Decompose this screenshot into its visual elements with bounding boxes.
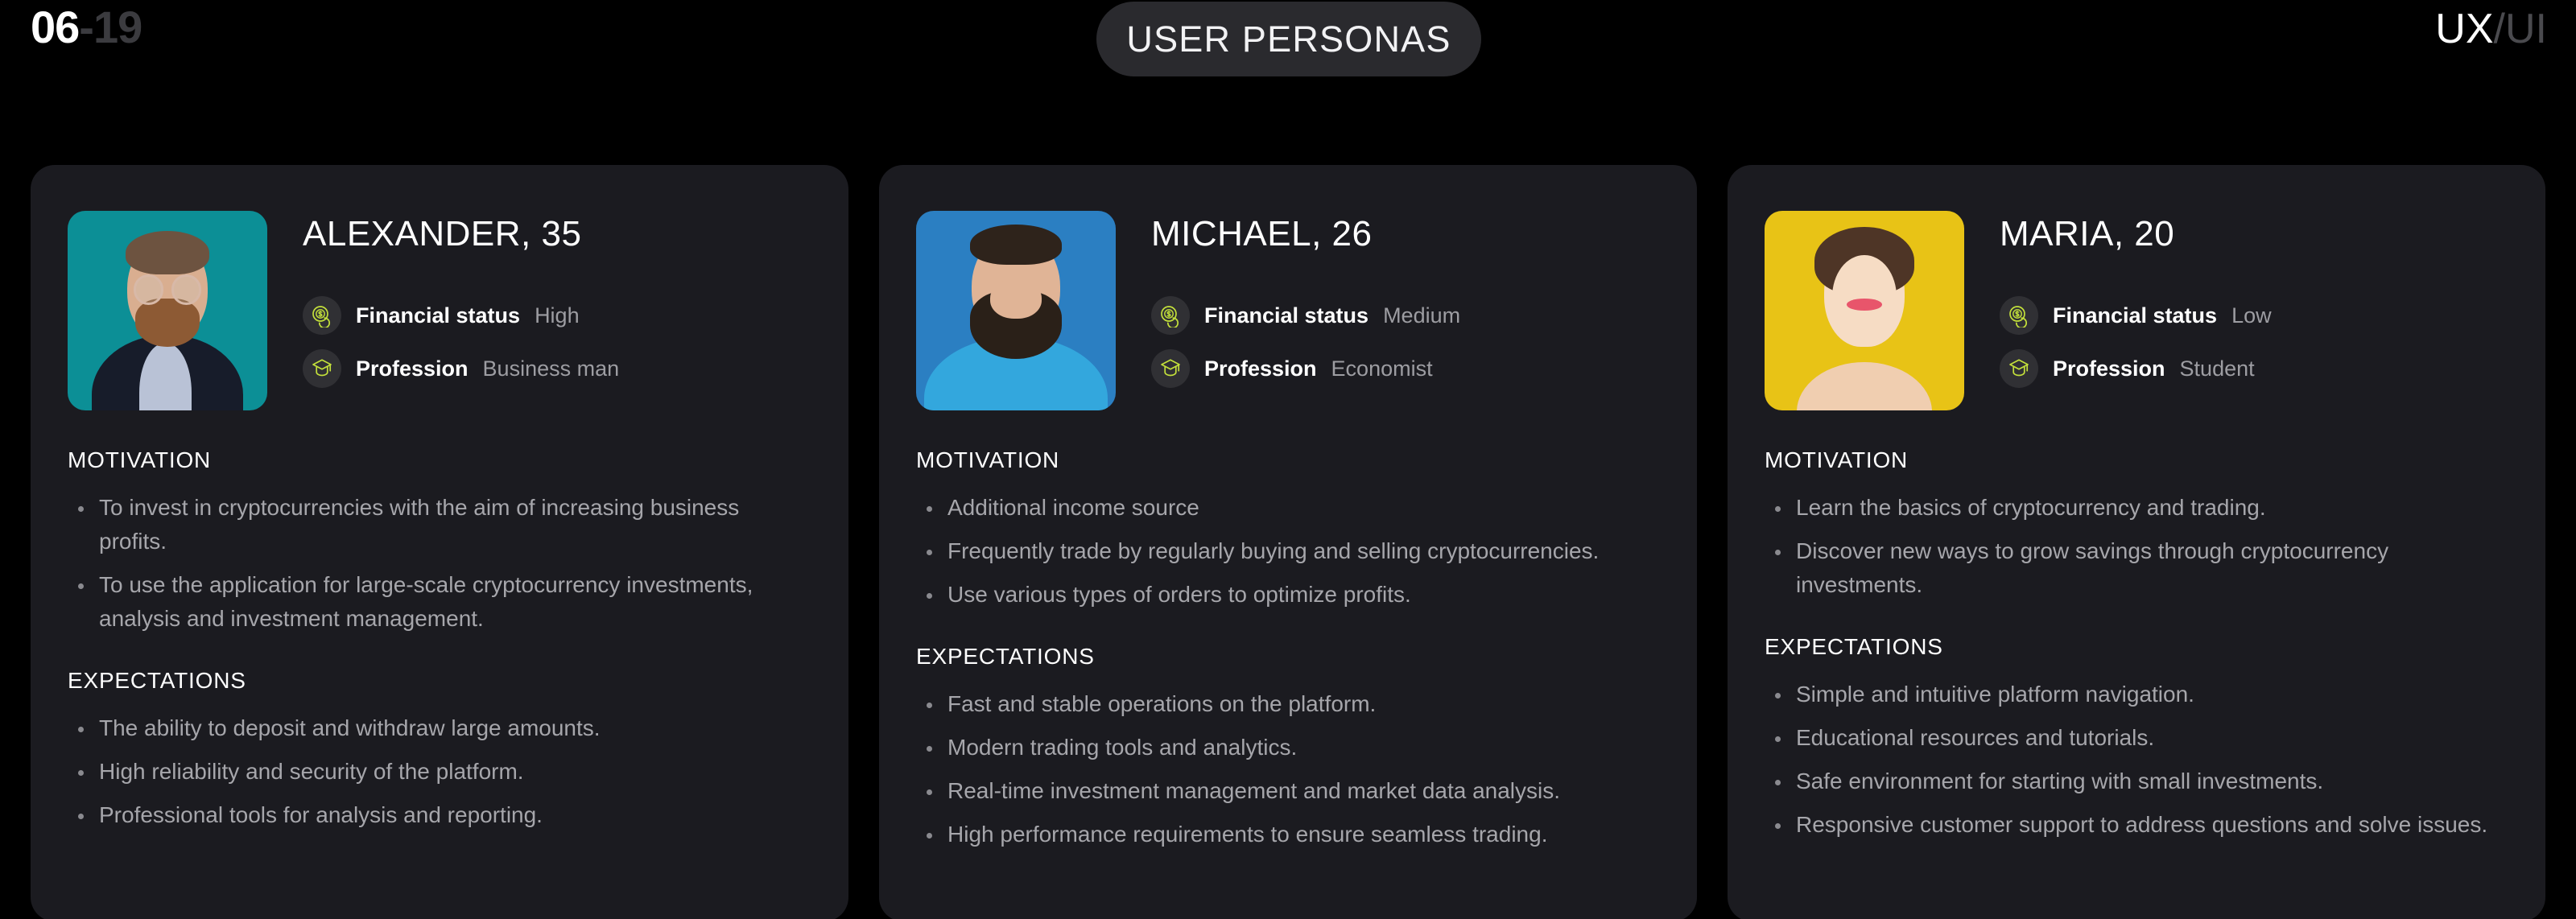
persona-card[interactable]: ALEXANDER, 35Financial statusHighProfess… xyxy=(31,165,848,919)
avatar xyxy=(68,211,267,410)
persona-header: MICHAEL, 26Financial statusMediumProfess… xyxy=(916,211,1660,410)
list-item: Learn the basics of cryptocurrency and t… xyxy=(1765,491,2508,525)
profession-value: Economist xyxy=(1331,356,1433,381)
list-item: Educational resources and tutorials. xyxy=(1765,721,2508,755)
profession-label: Profession xyxy=(1204,356,1317,381)
list-item: Responsive customer support to address q… xyxy=(1765,808,2508,842)
financial-status-value: Medium xyxy=(1383,303,1460,328)
list-item: Frequently trade by regularly buying and… xyxy=(916,534,1660,568)
list-item: Simple and intuitive platform navigation… xyxy=(1765,678,2508,711)
attribute-financial-status: Financial statusHigh xyxy=(303,296,619,335)
slide-title-pill: USER PERSONAS xyxy=(1096,2,1481,76)
persona-card[interactable]: MICHAEL, 26Financial statusMediumProfess… xyxy=(879,165,1697,919)
graduation-cap-icon xyxy=(2000,349,2038,388)
attribute-financial-status: Financial statusMedium xyxy=(1151,296,1460,335)
expectations-list: The ability to deposit and withdraw larg… xyxy=(68,711,811,832)
list-item: Real-time investment management and mark… xyxy=(916,774,1660,808)
attribute-profession: ProfessionEconomist xyxy=(1151,349,1460,388)
motivation-heading: MOTIVATION xyxy=(68,447,811,473)
motivation-list: Additional income sourceFrequently trade… xyxy=(916,491,1660,612)
financial-status-value: Low xyxy=(2231,303,2272,328)
list-item: Discover new ways to grow savings throug… xyxy=(1765,534,2508,602)
avatar xyxy=(1765,211,1964,410)
avatar xyxy=(916,211,1116,410)
list-item: High performance requirements to ensure … xyxy=(916,818,1660,851)
persona-name: MARIA, 20 xyxy=(2000,214,2272,254)
list-item: Professional tools for analysis and repo… xyxy=(68,798,811,832)
financial-status-label: Financial status xyxy=(1204,303,1368,328)
expectations-heading: EXPECTATIONS xyxy=(916,644,1660,670)
motivation-heading: MOTIVATION xyxy=(916,447,1660,473)
financial-status-label: Financial status xyxy=(2053,303,2217,328)
list-item: Additional income source xyxy=(916,491,1660,525)
list-item: The ability to deposit and withdraw larg… xyxy=(68,711,811,745)
brand-primary: UX xyxy=(2435,6,2493,52)
persona-attributes: Financial statusMediumProfessionEconomis… xyxy=(1151,296,1460,388)
brand-secondary: /UI xyxy=(2494,6,2547,52)
expectations-list: Simple and intuitive platform navigation… xyxy=(1765,678,2508,842)
list-item: To use the application for large-scale c… xyxy=(68,568,811,636)
motivation-section: MOTIVATIONLearn the basics of cryptocurr… xyxy=(1765,447,2508,602)
persona-name: ALEXANDER, 35 xyxy=(303,214,619,254)
motivation-section: MOTIVATIONAdditional income sourceFreque… xyxy=(916,447,1660,612)
graduation-cap-icon xyxy=(1151,349,1190,388)
coin-dollar-icon xyxy=(1151,296,1190,335)
graduation-cap-icon xyxy=(303,349,341,388)
profession-value: Business man xyxy=(483,356,620,381)
list-item: To invest in cryptocurrencies with the a… xyxy=(68,491,811,558)
coin-dollar-icon xyxy=(2000,296,2038,335)
expectations-section: EXPECTATIONSThe ability to deposit and w… xyxy=(68,668,811,832)
persona-attributes: Financial statusLowProfessionStudent xyxy=(2000,296,2272,388)
expectations-section: EXPECTATIONSFast and stable operations o… xyxy=(916,644,1660,851)
page-title: USER PERSONAS xyxy=(1126,19,1451,60)
list-item: Modern trading tools and analytics. xyxy=(916,731,1660,764)
coin-dollar-icon xyxy=(303,296,341,335)
list-item: Fast and stable operations on the platfo… xyxy=(916,687,1660,721)
list-item: Use various types of orders to optimize … xyxy=(916,578,1660,612)
slide-header: 06-19 USER PERSONAS UX/UI xyxy=(0,0,2576,80)
motivation-list: To invest in cryptocurrencies with the a… xyxy=(68,491,811,636)
persona-name: MICHAEL, 26 xyxy=(1151,214,1460,254)
financial-status-value: High xyxy=(535,303,580,328)
list-item: High reliability and security of the pla… xyxy=(68,755,811,789)
expectations-heading: EXPECTATIONS xyxy=(1765,634,2508,660)
list-item: Safe environment for starting with small… xyxy=(1765,764,2508,798)
persona-header: ALEXANDER, 35Financial statusHighProfess… xyxy=(68,211,811,410)
motivation-section: MOTIVATIONTo invest in cryptocurrencies … xyxy=(68,447,811,636)
attribute-profession: ProfessionBusiness man xyxy=(303,349,619,388)
motivation-heading: MOTIVATION xyxy=(1765,447,2508,473)
financial-status-label: Financial status xyxy=(356,303,520,328)
page-total: -19 xyxy=(79,2,142,52)
expectations-section: EXPECTATIONSSimple and intuitive platfor… xyxy=(1765,634,2508,842)
profession-label: Profession xyxy=(2053,356,2165,381)
attribute-financial-status: Financial statusLow xyxy=(2000,296,2272,335)
persona-header: MARIA, 20Financial statusLowProfessionSt… xyxy=(1765,211,2508,410)
profession-label: Profession xyxy=(356,356,469,381)
page-current: 06 xyxy=(31,2,79,52)
expectations-heading: EXPECTATIONS xyxy=(68,668,811,694)
page-indicator: 06-19 xyxy=(31,3,142,52)
brand-label: UX/UI xyxy=(2435,5,2547,53)
expectations-list: Fast and stable operations on the platfo… xyxy=(916,687,1660,851)
persona-card[interactable]: MARIA, 20Financial statusLowProfessionSt… xyxy=(1728,165,2545,919)
attribute-profession: ProfessionStudent xyxy=(2000,349,2272,388)
slide: 06-19 USER PERSONAS UX/UI ALEXANDER, 35F… xyxy=(0,0,2576,919)
persona-card-list: ALEXANDER, 35Financial statusHighProfess… xyxy=(31,165,2545,919)
persona-attributes: Financial statusHighProfessionBusiness m… xyxy=(303,296,619,388)
motivation-list: Learn the basics of cryptocurrency and t… xyxy=(1765,491,2508,602)
profession-value: Student xyxy=(2180,356,2255,381)
